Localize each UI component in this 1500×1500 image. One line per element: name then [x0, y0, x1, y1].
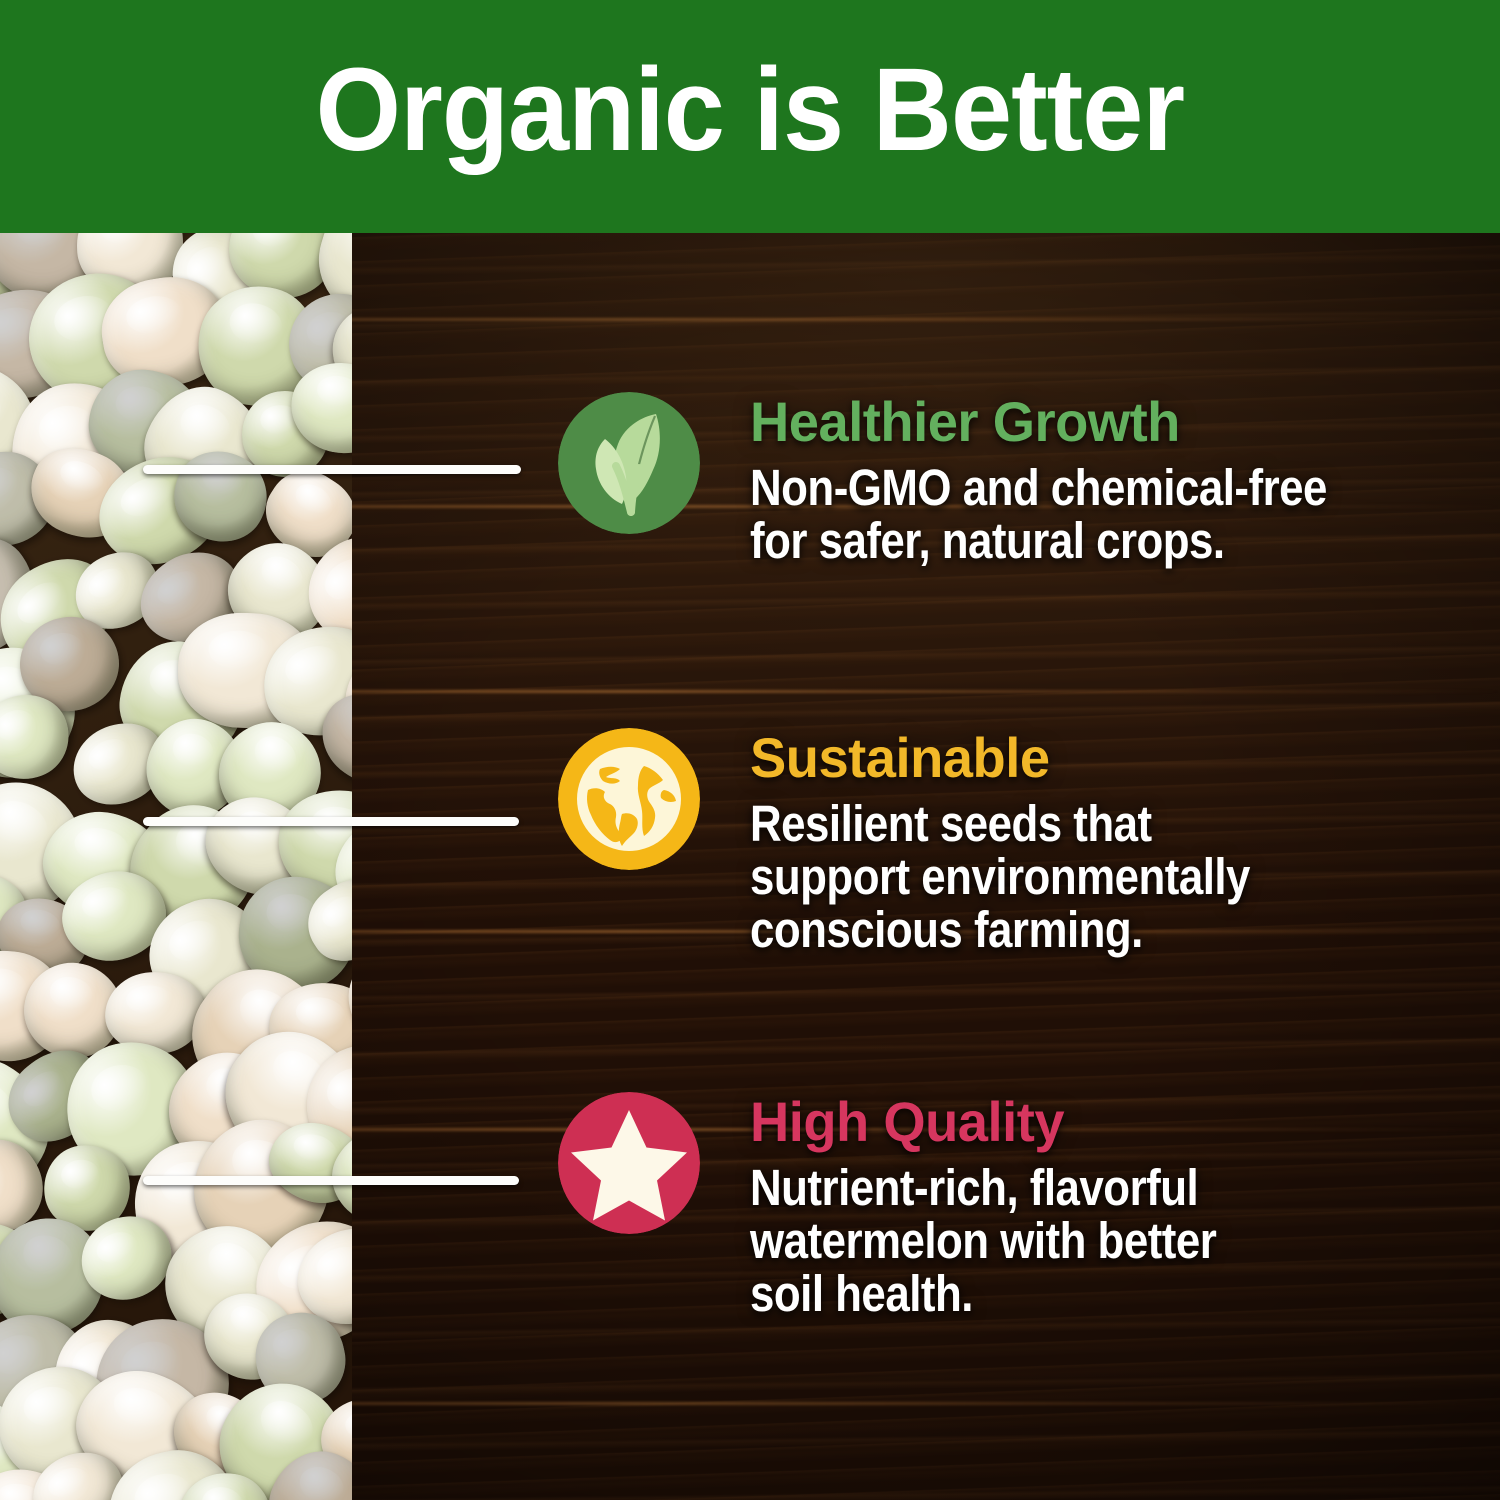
star-icon: [558, 1092, 700, 1234]
connector-line-2: [143, 817, 519, 826]
feature-item-high-quality: High Quality Nutrient-rich, flavorful wa…: [558, 1092, 1498, 1320]
feature-body: Non-GMO and chemical-free for safer, nat…: [750, 461, 1327, 567]
globe-icon: [558, 728, 700, 870]
feature-body: Resilient seeds that support environment…: [750, 797, 1250, 956]
feature-text-block: Sustainable Resilient seeds that support…: [750, 728, 1331, 956]
connector-line-1: [143, 465, 521, 474]
organic-product-infographic: Organic is Better Healthier Growth Non-G…: [0, 0, 1500, 1500]
header-banner: Organic is Better: [0, 0, 1500, 233]
leaf-icon: [558, 392, 700, 534]
feature-item-sustainable: Sustainable Resilient seeds that support…: [558, 728, 1498, 956]
feature-heading: Healthier Growth: [750, 394, 1401, 450]
seed-photo: [0, 208, 352, 1500]
page-title: Organic is Better: [316, 51, 1184, 183]
feature-heading: Sustainable: [750, 730, 1314, 786]
feature-body: Nutrient-rich, flavorful watermelon with…: [750, 1161, 1216, 1320]
feature-heading: High Quality: [750, 1094, 1276, 1150]
feature-item-healthier-growth: Healthier Growth Non-GMO and chemical-fr…: [558, 392, 1498, 567]
feature-text-block: High Quality Nutrient-rich, flavorful wa…: [750, 1092, 1292, 1320]
feature-text-block: Healthier Growth Non-GMO and chemical-fr…: [750, 392, 1421, 567]
connector-line-3: [143, 1176, 519, 1185]
